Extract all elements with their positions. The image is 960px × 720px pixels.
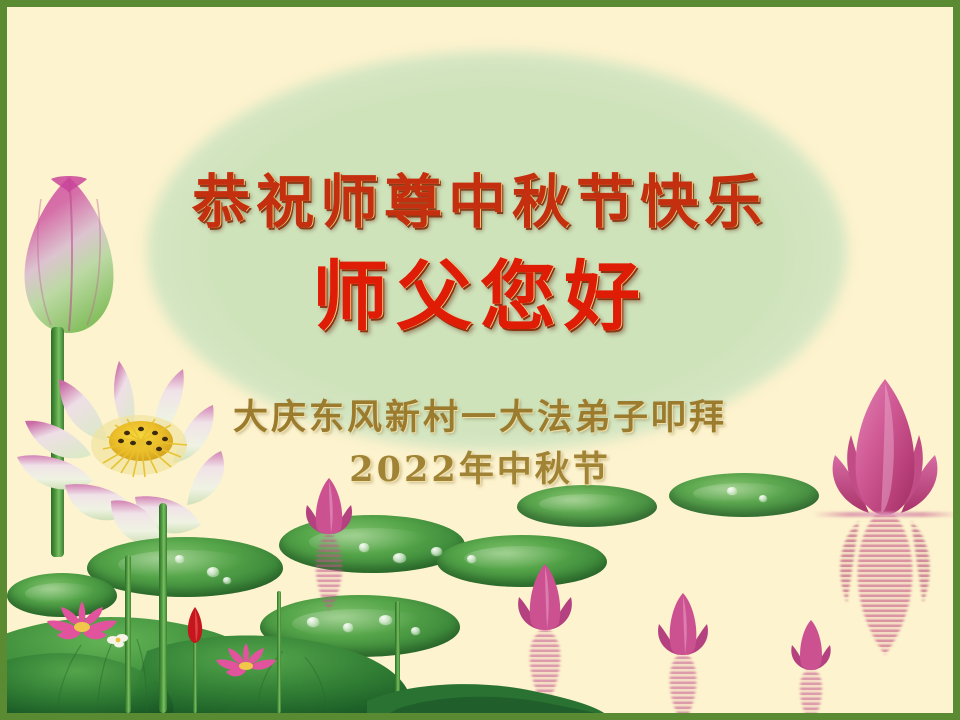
greeting-card: 恭祝师尊中秋节快乐 师父您好 大庆东风新村一大法弟子叩拜 2022年中秋节 — [0, 0, 960, 720]
lotus-bud-shape — [303, 477, 355, 535]
lotus-bud-left-large — [11, 175, 129, 345]
lotus-stem-red-bud — [193, 635, 197, 713]
lotus-flower-shape — [15, 345, 255, 561]
lotus-pond-artwork — [7, 7, 953, 713]
water-droplet — [727, 487, 737, 494]
lotus-bud-shape — [789, 619, 833, 671]
lotus-flower-shape — [215, 641, 277, 681]
water-droplet — [759, 495, 767, 501]
lotus-stem-tall — [277, 591, 281, 713]
lily-pad — [87, 537, 283, 597]
lily-pad — [669, 473, 819, 517]
red-bud-shape — [185, 607, 205, 643]
water-droplet — [431, 547, 442, 555]
reflection-shape — [655, 652, 711, 720]
water-droplet — [359, 543, 369, 551]
reflection-shape — [789, 667, 833, 720]
lotus-flower-open-white — [15, 345, 255, 561]
foliage-cluster-bottom-center — [367, 675, 607, 715]
lotus-bud-right-reflection — [825, 507, 945, 657]
blossom-accent-white — [107, 632, 129, 648]
reflection-shape — [303, 532, 355, 612]
lotus-bud-shape — [655, 592, 711, 656]
blossom-shape — [107, 632, 129, 648]
water-surface-line — [813, 512, 959, 517]
lotus-flower-pink-small — [215, 641, 277, 681]
lotus-bud-reflection — [789, 667, 833, 720]
water-droplet — [175, 555, 184, 562]
lotus-bud-shape — [825, 377, 945, 517]
lotus-bud-reflection — [303, 532, 355, 612]
lotus-bud-shape — [11, 175, 129, 345]
lotus-bud-small — [303, 477, 355, 535]
water-droplet — [393, 553, 406, 562]
lotus-bud-small — [655, 592, 711, 656]
lotus-bud-reflection — [655, 652, 711, 720]
lily-pad — [517, 485, 657, 527]
water-droplet — [207, 567, 219, 576]
lotus-bud-small — [789, 619, 833, 671]
reflection-shape — [825, 507, 945, 657]
lotus-stem-tall — [159, 503, 167, 713]
foliage-shape — [367, 675, 607, 715]
lotus-bud-red — [185, 607, 205, 643]
lotus-bud-shape — [515, 563, 575, 631]
water-droplet — [467, 555, 476, 562]
lotus-bud-right-large — [825, 377, 945, 517]
water-droplet — [223, 577, 231, 583]
lotus-bud-small — [515, 563, 575, 631]
